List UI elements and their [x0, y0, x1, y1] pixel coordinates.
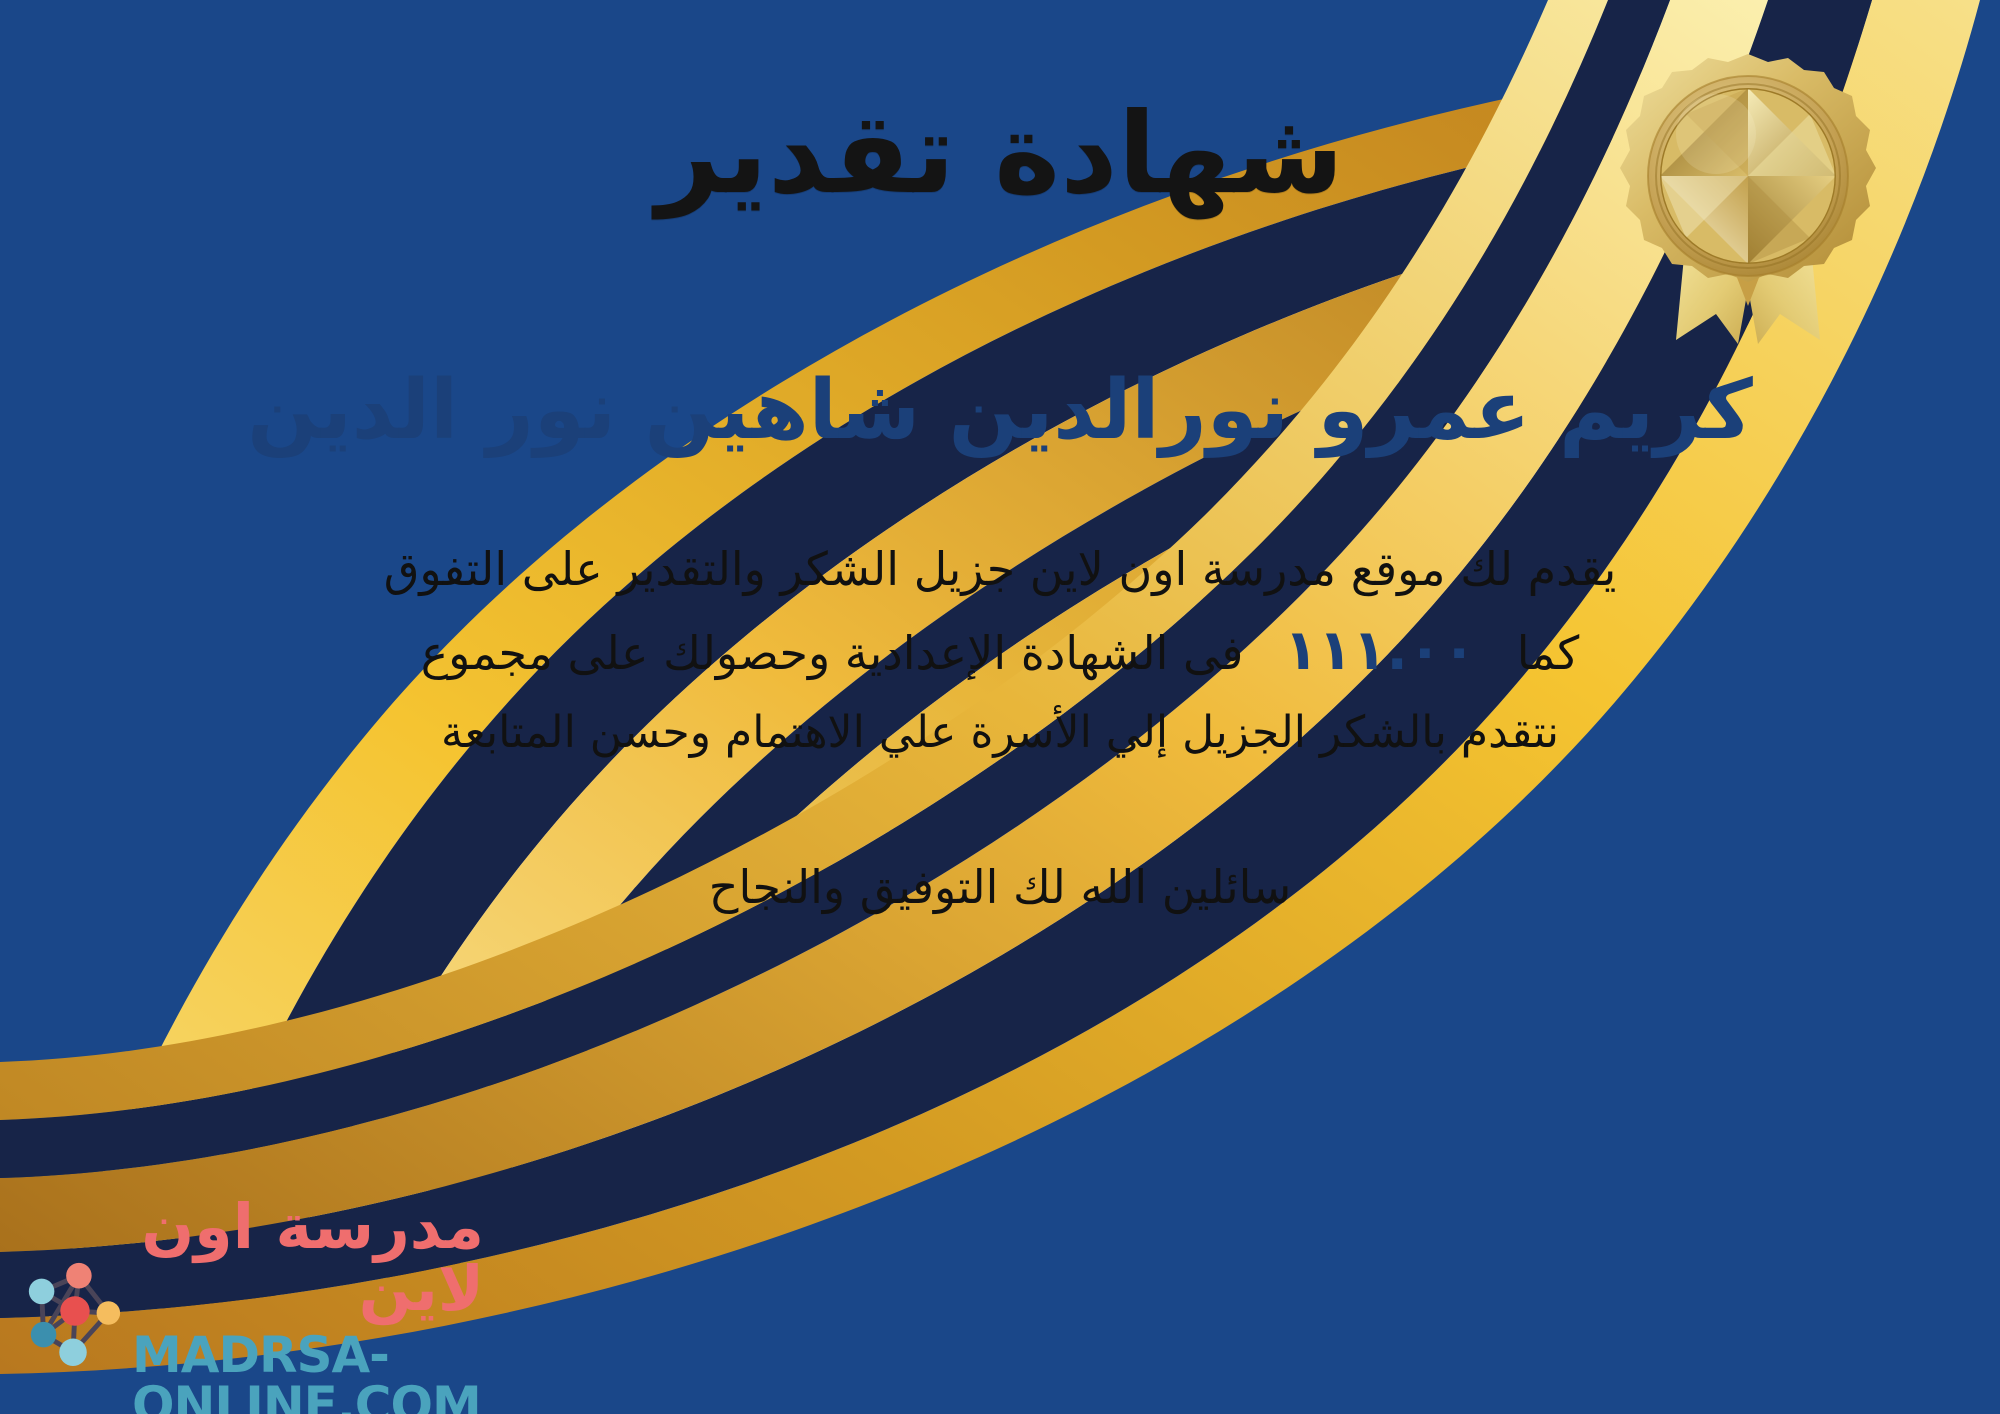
- body-line-1: يقدم لك موقع مدرسة اون لاين جزيل الشكر و…: [260, 532, 1740, 607]
- total-score-value: ١١١.٠٠: [1258, 618, 1502, 683]
- node-red-center: [60, 1296, 89, 1325]
- node-dark-blue: [31, 1322, 57, 1348]
- recipient-name: كريم عمرو نورالدين شاهين نور الدين: [107, 364, 1893, 458]
- body-line-2-after-score: كما: [1517, 626, 1580, 680]
- certificate-body: يقدم لك موقع مدرسة اون لاين جزيل الشكر و…: [260, 532, 1740, 769]
- brand-website-url: MADRSA-ONLINE.COM: [132, 1330, 490, 1414]
- closing-wish-line: سائلين الله لك التوفيق والنجاح: [709, 860, 1291, 914]
- certificate-title: شهادة تقدير: [656, 96, 1344, 214]
- node-salmon: [66, 1263, 92, 1289]
- node-light-blue: [29, 1279, 55, 1305]
- network-nodes-icon: [20, 1253, 128, 1373]
- node-orange: [97, 1301, 121, 1325]
- brand-logo[interactable]: مدرسة اون لاين MADRSA-ONLINE.COM: [20, 1228, 490, 1398]
- body-line-3: نتقدم بالشكر الجزيل إلي الأسرة علي الاهت…: [260, 697, 1740, 768]
- body-line-2: كما ١١١.٠٠ فى الشهادة الإعدادية وحصولك ع…: [260, 606, 1740, 697]
- brand-name-arabic: مدرسة اون لاين: [132, 1196, 490, 1320]
- node-light-blue-bottom: [59, 1339, 86, 1366]
- brand-logo-text: مدرسة اون لاين MADRSA-ONLINE.COM: [132, 1196, 490, 1414]
- certificate-canvas: شهادة تقدير كريم عمرو نورالدين شاهين نور…: [0, 0, 2000, 1414]
- body-line-2-before-score: فى الشهادة الإعدادية وحصولك على مجموع: [421, 626, 1244, 680]
